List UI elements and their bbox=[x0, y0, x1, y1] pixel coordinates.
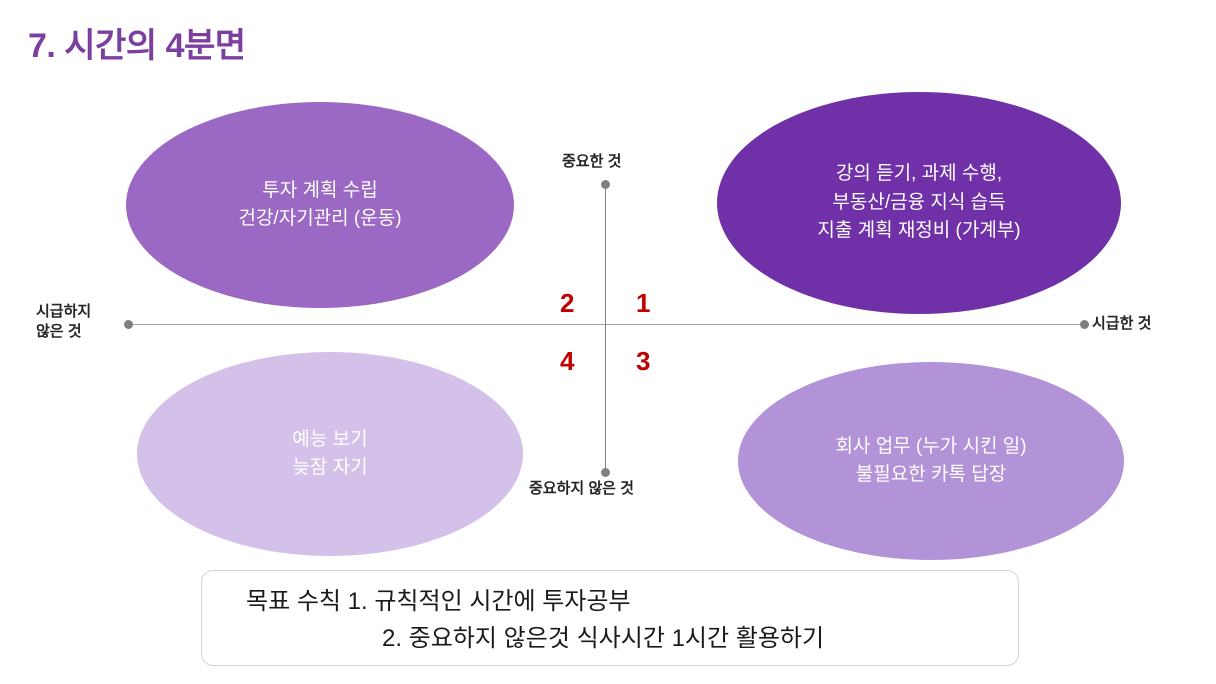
quadrant-4-ellipse: 예능 보기 늦잠 자기 bbox=[137, 352, 523, 556]
axis-endpoint-dot-bottom bbox=[601, 468, 610, 477]
quadrant-2-ellipse: 투자 계획 수립 건강/자기관리 (운동) bbox=[126, 102, 514, 308]
quadrant-1-text: 강의 듣기, 과제 수행, 부동산/금융 지식 습득 지출 계획 재정비 (가계… bbox=[817, 160, 1020, 246]
quadrant-1-ellipse: 강의 듣기, 과제 수행, 부동산/금융 지식 습득 지출 계획 재정비 (가계… bbox=[717, 92, 1121, 314]
goal-rule-line-1: 목표 수칙 1. 규칙적인 시간에 투자공부 bbox=[202, 583, 1018, 620]
axis-endpoint-dot-right bbox=[1080, 320, 1089, 329]
axis-label-urgent: 시급한 것 bbox=[1092, 314, 1151, 334]
horizontal-axis-line bbox=[128, 324, 1084, 325]
quadrant-3-text: 회사 업무 (누가 시킨 일) 불필요한 카톡 답장 bbox=[835, 433, 1026, 490]
quadrant-4-text: 예능 보기 늦잠 자기 bbox=[292, 426, 367, 483]
axis-label-not-urgent: 시급하지 않은 것 bbox=[36, 302, 91, 343]
axis-endpoint-dot-top bbox=[601, 180, 610, 189]
quadrant-3-ellipse: 회사 업무 (누가 시킨 일) 불필요한 카톡 답장 bbox=[738, 362, 1124, 560]
slide-canvas: 7. 시간의 4분면 중요한 것 중요하지 않은 것 시급한 것 시급하지 않은… bbox=[0, 0, 1216, 684]
goal-rules-box: 목표 수칙 1. 규칙적인 시간에 투자공부 2. 중요하지 않은것 식사시간 … bbox=[201, 570, 1019, 666]
axis-endpoint-dot-left bbox=[124, 320, 133, 329]
vertical-axis-line bbox=[605, 184, 606, 472]
goal-rule-line-2: 2. 중요하지 않은것 식사시간 1시간 활용하기 bbox=[202, 620, 1018, 657]
quadrant-number-2: 2 bbox=[560, 290, 574, 316]
quadrant-2-text: 투자 계획 수립 건강/자기관리 (운동) bbox=[238, 177, 401, 234]
page-title: 7. 시간의 4분면 bbox=[28, 18, 246, 67]
axis-label-not-important: 중요하지 않은 것 bbox=[529, 479, 634, 499]
axis-label-important: 중요한 것 bbox=[562, 152, 621, 172]
quadrant-number-1: 1 bbox=[636, 290, 650, 316]
quadrant-number-4: 4 bbox=[560, 348, 574, 374]
quadrant-number-3: 3 bbox=[636, 348, 650, 374]
